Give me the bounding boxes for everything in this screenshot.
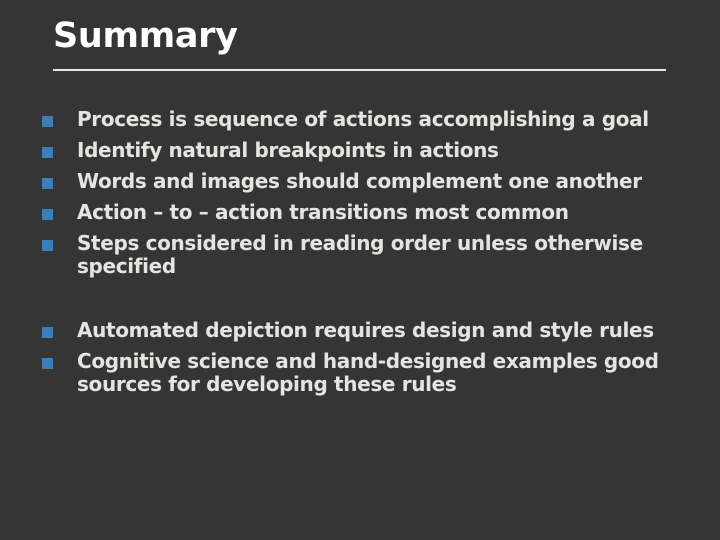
square-bullet-icon <box>42 147 53 158</box>
list-item: Words and images should complement one a… <box>42 170 692 193</box>
square-bullet-icon <box>42 178 53 189</box>
title-divider <box>53 69 666 71</box>
square-bullet-icon <box>42 240 53 251</box>
list-item-label: Identify natural breakpoints in actions <box>77 139 692 162</box>
list-item: Cognitive science and hand-designed exam… <box>42 350 692 396</box>
square-bullet-icon <box>42 327 53 338</box>
list-item-label: Automated depiction requires design and … <box>77 319 692 342</box>
presentation-slide: Summary Process is sequence of actions a… <box>0 0 720 540</box>
slide-title-block: Summary <box>53 14 666 58</box>
list-item-label: Process is sequence of actions accomplis… <box>77 108 692 131</box>
page-title: Summary <box>53 14 666 58</box>
square-bullet-icon <box>42 358 53 369</box>
square-bullet-icon <box>42 116 53 127</box>
list-item-label: Words and images should complement one a… <box>77 170 692 193</box>
square-bullet-icon <box>42 209 53 220</box>
list-item: Identify natural breakpoints in actions <box>42 139 692 162</box>
list-item: Steps considered in reading order unless… <box>42 232 692 278</box>
list-item: Action – to – action transitions most co… <box>42 201 692 224</box>
list-item: Automated depiction requires design and … <box>42 319 692 342</box>
list-item-label: Cognitive science and hand-designed exam… <box>77 350 692 396</box>
bullet-list: Process is sequence of actions accomplis… <box>42 108 692 404</box>
list-item-label: Steps considered in reading order unless… <box>77 232 692 278</box>
list-item: Process is sequence of actions accomplis… <box>42 108 692 131</box>
list-item-label: Action – to – action transitions most co… <box>77 201 692 224</box>
